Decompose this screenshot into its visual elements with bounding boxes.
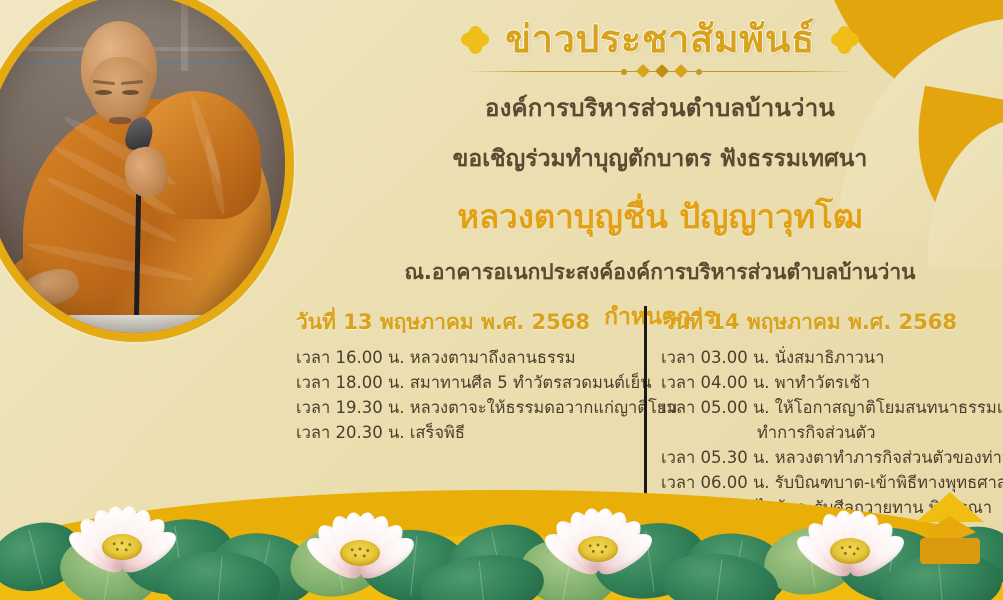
schedule-item: เวลา 03.00 น. นั่งสมาธิภาวนา xyxy=(661,345,996,370)
title-flourish-divider xyxy=(465,65,855,79)
lotus-flower xyxy=(62,480,182,576)
invitation-text: ขอเชิญร่วมทำบุญตักบาตร ฟังธรรมเทศนา xyxy=(330,141,990,177)
flourish-diamond-icon xyxy=(655,64,669,78)
schedule-item: เวลา 18.00 น. สมาทานศีล 5 ทำวัตรสวดมนต์เ… xyxy=(296,370,630,395)
lotus-flower xyxy=(538,482,658,578)
lotus-illustrations xyxy=(0,465,1003,600)
venue-text: ณ.อาคารอเนกประสงค์องค์การบริหารส่วนตำบลบ… xyxy=(330,256,990,289)
schedule-item: เวลา 04.00 น. พาทำวัตรเช้า xyxy=(661,370,996,395)
pagoda-ornament-icon xyxy=(911,492,989,564)
flourish-dot xyxy=(621,69,627,75)
quatrefoil-ornament-icon xyxy=(831,26,859,54)
monk-name: หลวงตาบุญชื่น ปัญญาวุทโฒ xyxy=(330,190,990,243)
flourish-dot xyxy=(696,69,702,75)
schedule-item: เวลา 19.30 น. หลวงตาจะให้ธรรมดอวากแก่ญาต… xyxy=(296,395,630,420)
lotus-flower xyxy=(790,484,910,580)
schedule-date-day1: วันที่ 13 พฤษภาคม พ.ศ. 2568 xyxy=(296,306,630,339)
flourish-diamond-icon xyxy=(636,64,650,78)
portrait-image xyxy=(0,0,285,333)
quatrefoil-ornament-icon xyxy=(461,26,489,54)
lotus-core xyxy=(578,536,618,562)
lotus-core xyxy=(340,540,380,566)
schedule-column-day1: วันที่ 13 พฤษภาคม พ.ศ. 2568 เวลา 16.00 น… xyxy=(296,306,644,445)
page-title: ข่าวประชาสัมพันธ์ xyxy=(505,18,815,62)
lotus-core xyxy=(102,534,142,560)
schedule-item: เวลา 16.00 น. หลวงตามาถึงลานธรรม xyxy=(296,345,630,370)
pagoda-base xyxy=(920,538,980,564)
schedule-item: เวลา 05.00 น. ให้โอกาสญาติโยมสนทนาธรรมแล… xyxy=(661,395,996,420)
schedule-date-day2: วันที่ 14 พฤษภาคม พ.ศ. 2568 xyxy=(663,306,996,339)
title-row: ข่าวประชาสัมพันธ์ xyxy=(330,18,990,62)
header-block: ข่าวประชาสัมพันธ์ องค์การบริหารส่วนตำบลบ… xyxy=(330,18,990,335)
flourish-diamond-icon xyxy=(674,64,688,78)
monk-portrait-photo xyxy=(0,0,294,342)
organization-name: องค์การบริหารส่วนตำบลบ้านว่าน xyxy=(330,88,990,127)
lotus-core xyxy=(830,538,870,564)
lotus-flower xyxy=(300,486,420,582)
poster-canvas: ข่าวประชาสัมพันธ์ องค์การบริหารส่วนตำบลบ… xyxy=(0,0,1003,600)
schedule-item-continuation: ทำการกิจส่วนตัว xyxy=(661,420,996,445)
schedule-item: เวลา 20.30 น. เสร็จพิธี xyxy=(296,420,630,445)
